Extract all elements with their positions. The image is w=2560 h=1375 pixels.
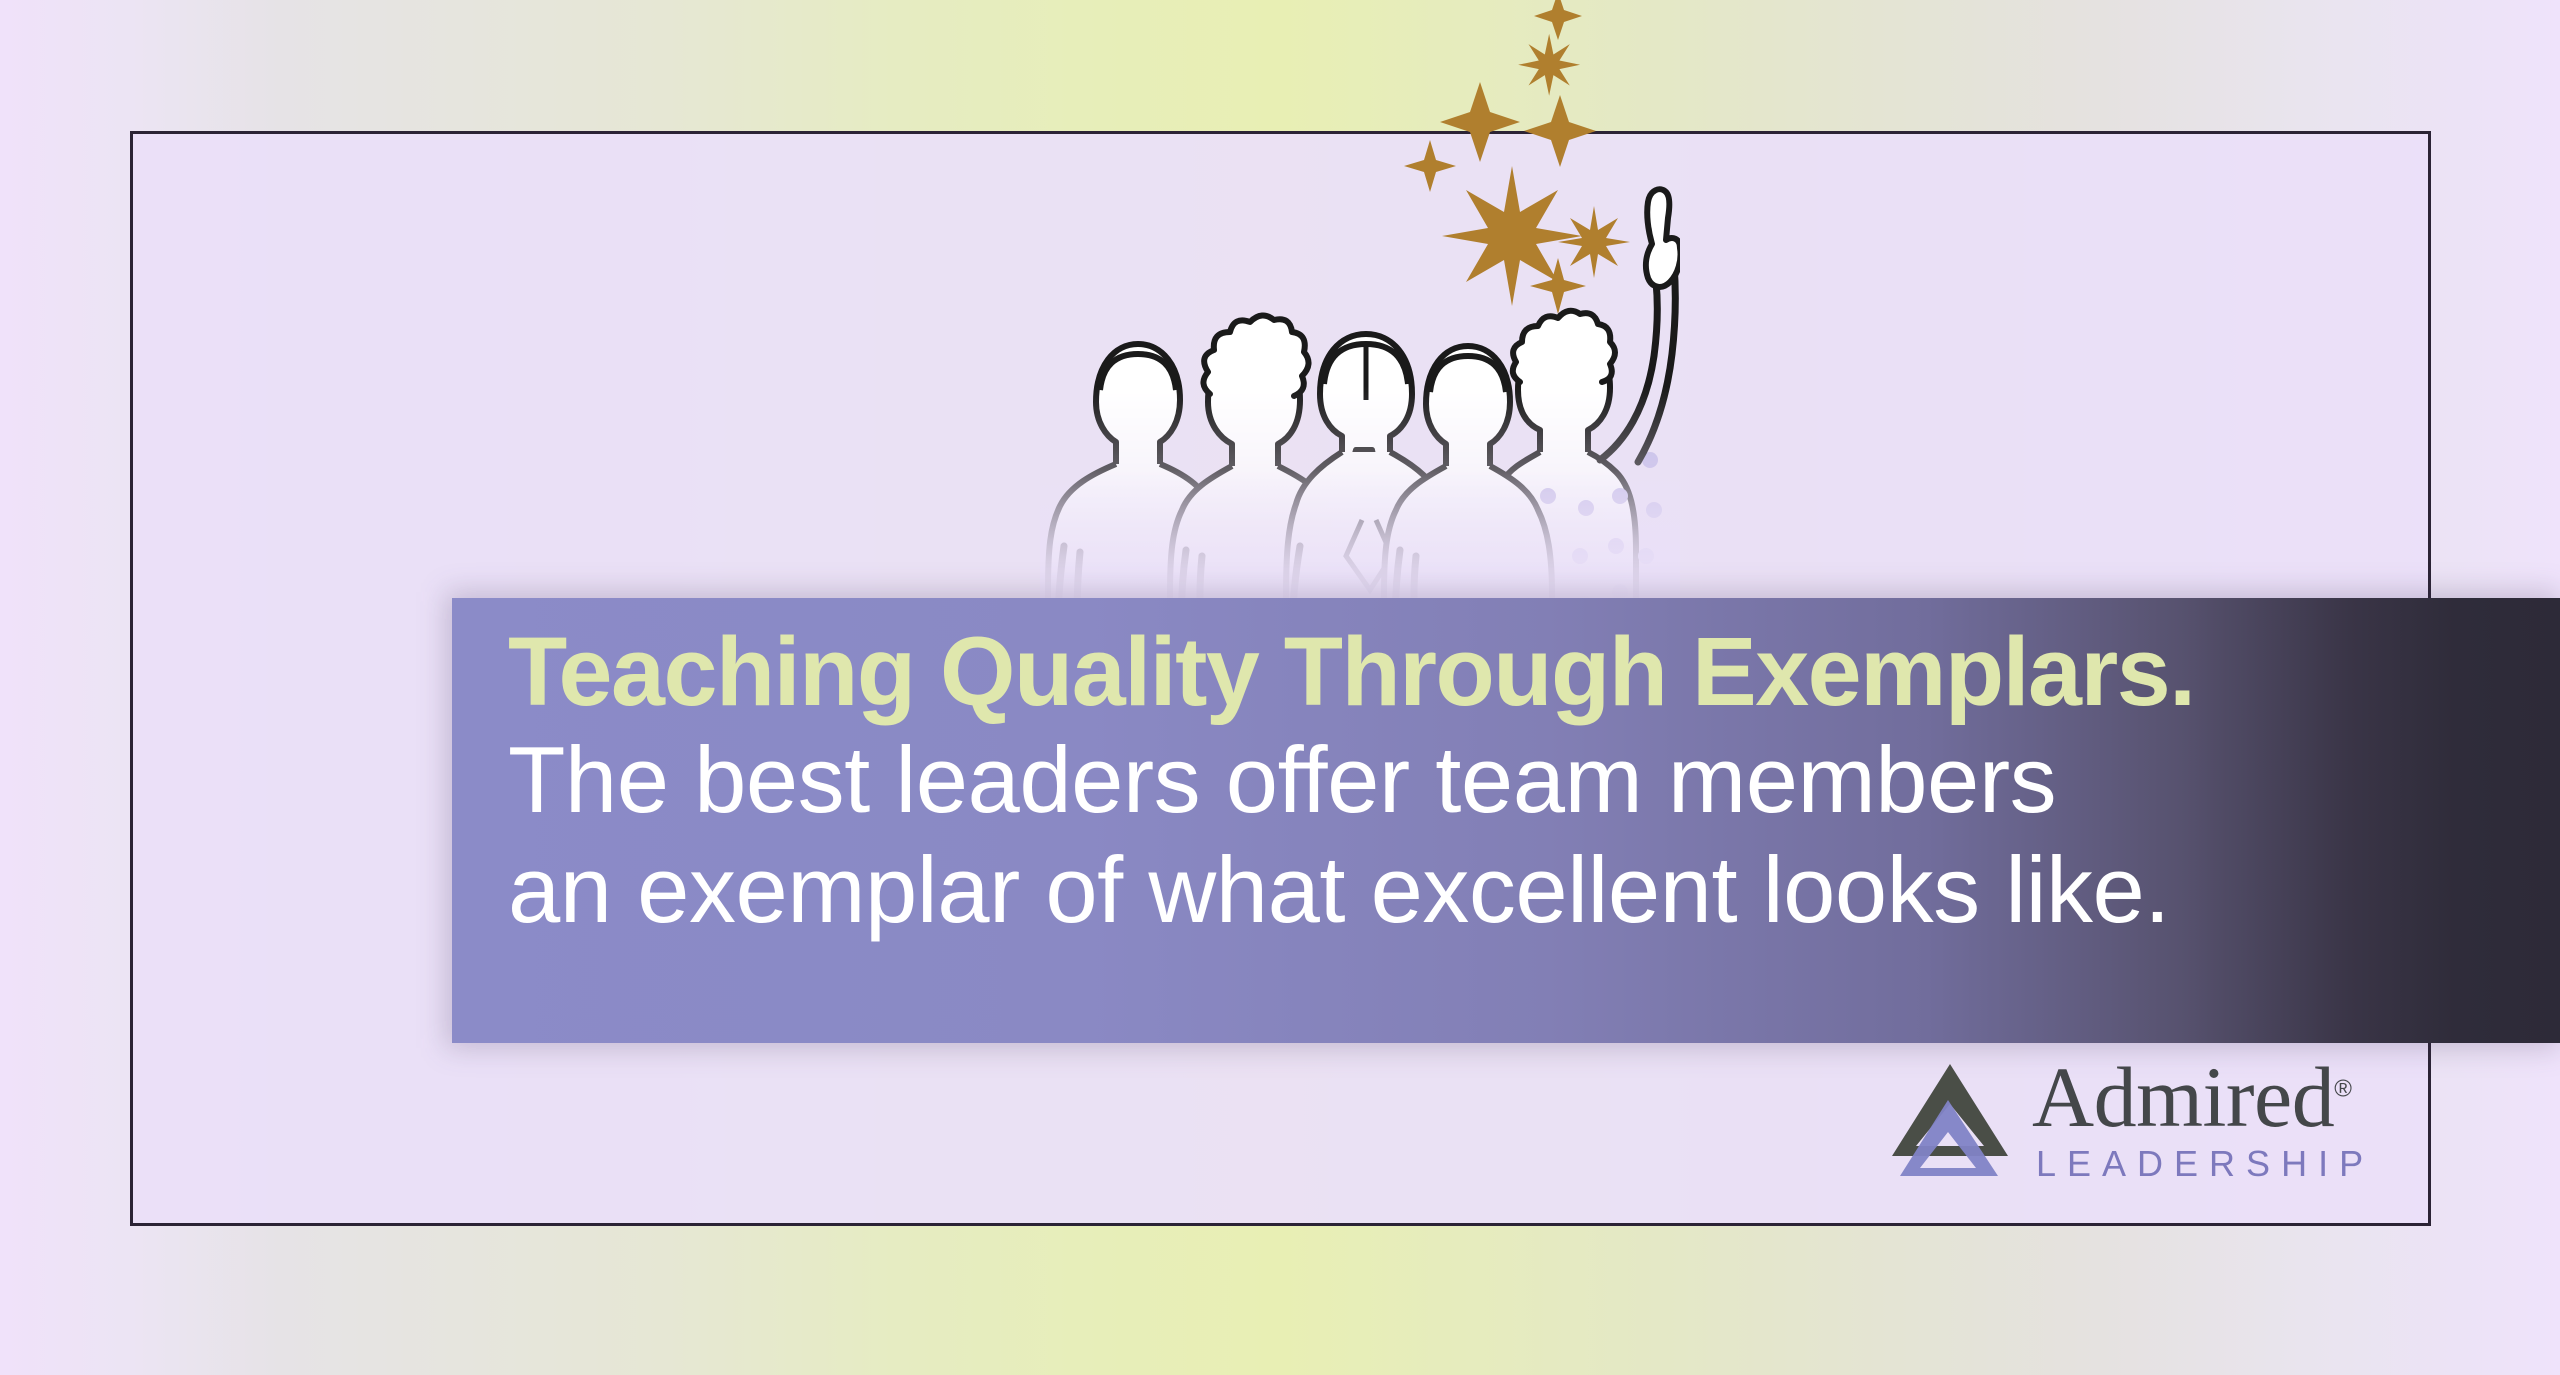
banner-headline: Teaching Quality Through Exemplars. [508,620,2560,725]
logo-wordmark-text: Admired [2032,1049,2334,1145]
admired-leadership-logo[interactable]: Admired® LEADERSHIP [1888,1058,2428,1208]
banner-body-line-2: an exemplar of what excellent looks like… [508,835,2560,945]
star-4pt-top [1534,0,1582,40]
triangle-logo-icon [1888,1058,2016,1178]
logo-wordmark: Admired® [2032,1058,2374,1137]
registered-trademark-icon: ® [2334,1075,2351,1102]
banner-body-line-1: The best leaders offer team members [508,725,2560,835]
logo-text-block: Admired® LEADERSHIP [2032,1058,2374,1185]
logo-tagline: LEADERSHIP [2036,1143,2374,1185]
slide-canvas: Teaching Quality Through Exemplars. The … [0,0,2560,1375]
star-6pt-upper [1518,34,1580,96]
quote-banner: Teaching Quality Through Exemplars. The … [452,598,2560,1043]
